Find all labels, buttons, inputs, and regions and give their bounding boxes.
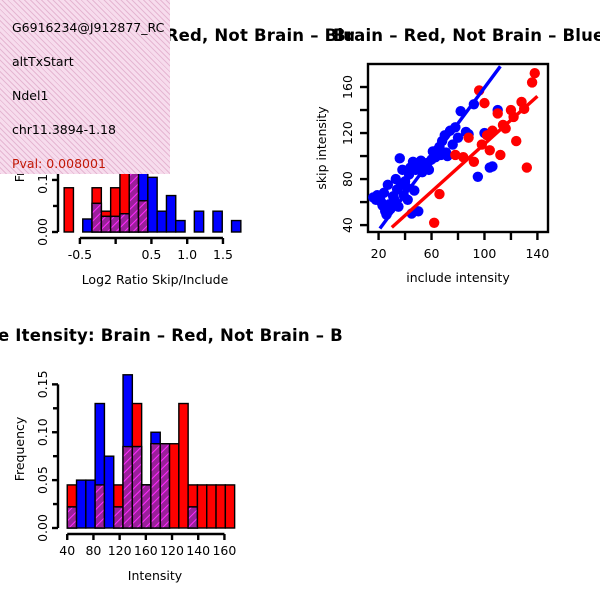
hist-bar-brain [197,485,206,528]
annotation-pvalue: Pval: 0.008001 [12,156,170,171]
hist-bar-overlap [139,201,148,232]
hist-bar-brain [225,485,234,528]
x-axis-label: include intensity [406,270,510,285]
annotation-gene-name: Ndel1 [12,88,170,103]
hist-bar-not-brain [166,196,175,232]
x-tick-label: 140 [186,543,210,558]
y-tick-label: 0.10 [35,418,50,446]
scatter-point-brain [429,218,439,228]
scatter-point-brain [463,132,473,142]
hist-bar-not-brain [176,221,185,232]
hist-bar-not-brain [104,456,113,528]
y-tick-label: 0.15 [35,370,50,398]
scatter-point-not-brain [473,172,483,182]
x-tick-label: 120 [108,543,132,558]
hist-bar-overlap [120,214,129,232]
x-tick-label: 80 [85,543,101,558]
scatter-point-brain [527,77,537,87]
annotation-box: G6916234@J912877_RC altTxStart Ndel1 chr… [0,0,170,174]
y-axis-label: Frequency [12,416,27,481]
hist-bar-brain [179,404,188,528]
scatter-point-brain [530,68,540,78]
hist-bar-overlap [151,444,160,528]
hist-bar-overlap [95,485,104,528]
hist-intensity-svg: 0.000.050.100.15Frequency408012016012014… [0,350,300,600]
scatter-point-not-brain [487,161,497,171]
x-tick-label: -0.5 [68,247,92,262]
hist-intensity-plot: 0.000.050.100.15Frequency408012016012014… [0,350,300,600]
scatter-point-not-brain [395,153,405,163]
hist-bar-not-brain [232,221,241,232]
hist-bar-overlap [92,203,101,232]
x-tick-label: 1.0 [177,247,197,262]
scatter-title: Brain – Red, Not Brain – Blue [333,26,600,45]
scatter-point-brain [434,189,444,199]
hist-bar-overlap [142,485,151,528]
scatter-point-brain [522,162,532,172]
hist-bar-not-brain [148,177,157,232]
x-tick-label: 120 [160,543,184,558]
y-tick-label: 40 [340,217,355,233]
hist-bar-overlap [132,447,141,528]
hist-bar-overlap [114,507,123,528]
scatter-point-brain [493,108,503,118]
hist-bar-overlap [111,216,120,232]
hist-bar-not-brain [194,211,203,232]
y-tick-label: 0.00 [35,218,50,246]
x-tick-label: 0.5 [141,247,161,262]
hist-bar-brain [64,188,73,232]
scatter-point-brain [511,136,521,146]
x-tick-label: 100 [473,246,497,261]
hist-bar-not-brain [213,211,222,232]
x-tick-label: 20 [371,246,387,261]
scatter-point-brain [485,145,495,155]
x-tick-label: 140 [525,246,549,261]
scatter-svg: 20601001404080120160include intensityski… [300,50,600,300]
hist-bar-not-brain [86,480,95,528]
hist-bar-overlap [160,444,169,528]
scatter-point-brain [495,150,505,160]
x-tick-label: 160 [212,543,236,558]
y-tick-label: 0.00 [35,514,50,542]
annotation-locus: chr11.3894-1.18 [12,122,170,137]
hist-bar-overlap [101,216,110,232]
y-tick-label: 120 [340,121,355,145]
x-tick-label: 40 [59,543,75,558]
x-axis-label: Log2 Ratio Skip/Include [82,272,229,287]
hist-bar-not-brain [77,480,86,528]
hist-bar-brain [170,444,179,528]
hist-intensity-title: ne Itensity: Brain – Red, Not Brain – B [0,326,343,345]
x-tick-label: 60 [424,246,440,261]
hist-bar-overlap [67,507,76,528]
hist-bar-brain [207,485,216,528]
annotation-event-type: altTxStart [12,54,170,69]
x-tick-label: 1.5 [213,247,233,262]
hist-bar-brain [216,485,225,528]
scatter-plot: 20601001404080120160include intensityski… [300,50,600,300]
y-tick-label: 0.05 [35,466,50,494]
scatter-point-brain [479,98,489,108]
y-tick-label: 160 [340,75,355,99]
hist-bar-overlap [188,507,197,528]
y-axis-label: skip intensity [314,106,329,190]
hist-bar-not-brain [157,211,166,232]
y-tick-label: 80 [340,171,355,187]
annotation-lines: G6916234@J912877_RC altTxStart Ndel1 chr… [0,0,170,174]
x-axis-label: Intensity [128,568,183,583]
annotation-probe-id: G6916234@J912877_RC [12,20,170,35]
hist-bar-overlap [123,447,132,528]
x-tick-label: 160 [134,543,158,558]
hist-bar-not-brain [83,219,92,232]
